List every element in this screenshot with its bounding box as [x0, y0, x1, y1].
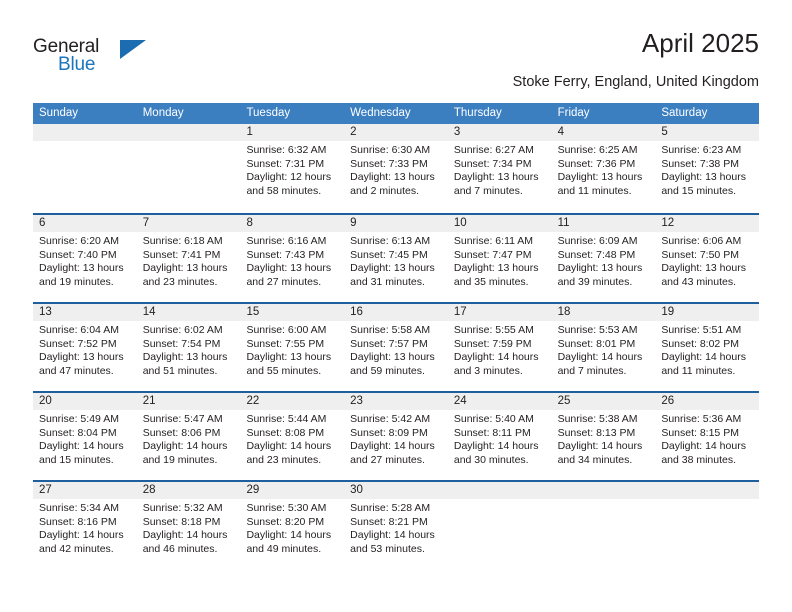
day-details: Sunrise: 6:00 AMSunset: 7:55 PMDaylight:… [240, 321, 344, 378]
daylight-text: and 23 minutes. [246, 454, 339, 468]
logo-text-blue: Blue [58, 54, 95, 76]
day-number-band: 23 [344, 393, 448, 410]
sunrise-text: Sunrise: 5:47 AM [143, 413, 236, 427]
sunrise-text: Sunrise: 6:25 AM [558, 144, 651, 158]
day-number: 9 [344, 215, 448, 232]
daylight-text: and 34 minutes. [558, 454, 651, 468]
day-details: Sunrise: 5:36 AMSunset: 8:15 PMDaylight:… [655, 410, 759, 467]
daylight-text: and 35 minutes. [454, 276, 547, 290]
day-number-band: 21 [137, 393, 241, 410]
calendar-week-row: 27Sunrise: 5:34 AMSunset: 8:16 PMDayligh… [33, 480, 759, 569]
calendar-day-cell-11[interactable]: 11Sunrise: 6:09 AMSunset: 7:48 PMDayligh… [552, 215, 656, 302]
day-details: Sunrise: 5:32 AMSunset: 8:18 PMDaylight:… [137, 499, 241, 556]
sunset-text: Sunset: 8:01 PM [558, 338, 651, 352]
day-details: Sunrise: 6:11 AMSunset: 7:47 PMDaylight:… [448, 232, 552, 289]
day-number-band: 1 [240, 124, 344, 141]
sunset-text: Sunset: 8:08 PM [246, 427, 339, 441]
daylight-text: Daylight: 13 hours [246, 351, 339, 365]
sunrise-text: Sunrise: 5:28 AM [350, 502, 443, 516]
day-number: 13 [33, 304, 137, 321]
calendar-weekday-header: SundayMondayTuesdayWednesdayThursdayFrid… [33, 103, 759, 124]
daylight-text: Daylight: 12 hours [246, 171, 339, 185]
day-number-band: 9 [344, 215, 448, 232]
page-header: General Blue April 2025 Stoke Ferry, Eng… [33, 28, 759, 100]
daylight-text: Daylight: 13 hours [661, 171, 754, 185]
daylight-text: and 49 minutes. [246, 543, 339, 557]
weekday-header-tuesday: Tuesday [240, 103, 344, 124]
sunset-text: Sunset: 7:48 PM [558, 249, 651, 263]
day-number-band: 13 [33, 304, 137, 321]
sunset-text: Sunset: 7:40 PM [39, 249, 132, 263]
daylight-text: Daylight: 14 hours [454, 351, 547, 365]
day-number: 27 [33, 482, 137, 499]
day-number: 23 [344, 393, 448, 410]
calendar-day-cell-10[interactable]: 10Sunrise: 6:11 AMSunset: 7:47 PMDayligh… [448, 215, 552, 302]
calendar-day-cell-17[interactable]: 17Sunrise: 5:55 AMSunset: 7:59 PMDayligh… [448, 304, 552, 391]
day-number-band: 6 [33, 215, 137, 232]
day-details: Sunrise: 6:23 AMSunset: 7:38 PMDaylight:… [655, 141, 759, 198]
daylight-text: and 51 minutes. [143, 365, 236, 379]
day-details: Sunrise: 5:34 AMSunset: 8:16 PMDaylight:… [33, 499, 137, 556]
daylight-text: Daylight: 14 hours [143, 529, 236, 543]
calendar-day-cell-4[interactable]: 4Sunrise: 6:25 AMSunset: 7:36 PMDaylight… [552, 124, 656, 213]
general-blue-logo: General Blue [33, 36, 153, 78]
calendar-day-cell-25[interactable]: 25Sunrise: 5:38 AMSunset: 8:13 PMDayligh… [552, 393, 656, 480]
calendar-day-cell-13[interactable]: 13Sunrise: 6:04 AMSunset: 7:52 PMDayligh… [33, 304, 137, 391]
day-number-band: 20 [33, 393, 137, 410]
calendar-day-cell-27[interactable]: 27Sunrise: 5:34 AMSunset: 8:16 PMDayligh… [33, 482, 137, 569]
day-details: Sunrise: 6:06 AMSunset: 7:50 PMDaylight:… [655, 232, 759, 289]
sunrise-text: Sunrise: 6:04 AM [39, 324, 132, 338]
weekday-header-thursday: Thursday [448, 103, 552, 124]
day-number-band [33, 124, 137, 141]
sunrise-text: Sunrise: 6:18 AM [143, 235, 236, 249]
daylight-text: and 11 minutes. [661, 365, 754, 379]
day-details: Sunrise: 6:16 AMSunset: 7:43 PMDaylight:… [240, 232, 344, 289]
calendar-day-cell-empty [655, 482, 759, 569]
day-number-band: 15 [240, 304, 344, 321]
sunset-text: Sunset: 7:55 PM [246, 338, 339, 352]
sunrise-text: Sunrise: 5:51 AM [661, 324, 754, 338]
daylight-text: and 38 minutes. [661, 454, 754, 468]
day-number: 6 [33, 215, 137, 232]
sunrise-text: Sunrise: 5:55 AM [454, 324, 547, 338]
calendar-day-cell-30[interactable]: 30Sunrise: 5:28 AMSunset: 8:21 PMDayligh… [344, 482, 448, 569]
sunrise-text: Sunrise: 5:42 AM [350, 413, 443, 427]
daylight-text: Daylight: 13 hours [558, 171, 651, 185]
day-number: 12 [655, 215, 759, 232]
day-details: Sunrise: 5:47 AMSunset: 8:06 PMDaylight:… [137, 410, 241, 467]
sunrise-text: Sunrise: 6:06 AM [661, 235, 754, 249]
day-details: Sunrise: 5:40 AMSunset: 8:11 PMDaylight:… [448, 410, 552, 467]
daylight-text: Daylight: 14 hours [246, 529, 339, 543]
page-subtitle-location: Stoke Ferry, England, United Kingdom [513, 74, 759, 90]
daylight-text: and 31 minutes. [350, 276, 443, 290]
sunset-text: Sunset: 7:34 PM [454, 158, 547, 172]
sunset-text: Sunset: 7:57 PM [350, 338, 443, 352]
day-number: 17 [448, 304, 552, 321]
day-details: Sunrise: 5:49 AMSunset: 8:04 PMDaylight:… [33, 410, 137, 467]
sunrise-text: Sunrise: 6:20 AM [39, 235, 132, 249]
daylight-text: and 19 minutes. [39, 276, 132, 290]
sunrise-text: Sunrise: 6:30 AM [350, 144, 443, 158]
day-number: 21 [137, 393, 241, 410]
calendar-day-cell-29[interactable]: 29Sunrise: 5:30 AMSunset: 8:20 PMDayligh… [240, 482, 344, 569]
sunrise-text: Sunrise: 6:09 AM [558, 235, 651, 249]
calendar-day-cell-22[interactable]: 22Sunrise: 5:44 AMSunset: 8:08 PMDayligh… [240, 393, 344, 480]
day-details: Sunrise: 5:28 AMSunset: 8:21 PMDaylight:… [344, 499, 448, 556]
day-number: 26 [655, 393, 759, 410]
logo-triangle-icon [120, 40, 146, 59]
day-number: 30 [344, 482, 448, 499]
sunset-text: Sunset: 7:45 PM [350, 249, 443, 263]
sunset-text: Sunset: 7:52 PM [39, 338, 132, 352]
day-details: Sunrise: 6:32 AMSunset: 7:31 PMDaylight:… [240, 141, 344, 198]
sunset-text: Sunset: 8:06 PM [143, 427, 236, 441]
day-number: 28 [137, 482, 241, 499]
daylight-text: Daylight: 14 hours [350, 440, 443, 454]
calendar-day-cell-9[interactable]: 9Sunrise: 6:13 AMSunset: 7:45 PMDaylight… [344, 215, 448, 302]
calendar-day-cell-28[interactable]: 28Sunrise: 5:32 AMSunset: 8:18 PMDayligh… [137, 482, 241, 569]
daylight-text: and 2 minutes. [350, 185, 443, 199]
sunrise-text: Sunrise: 5:34 AM [39, 502, 132, 516]
day-details: Sunrise: 6:27 AMSunset: 7:34 PMDaylight:… [448, 141, 552, 198]
daylight-text: and 53 minutes. [350, 543, 443, 557]
sunrise-text: Sunrise: 6:11 AM [454, 235, 547, 249]
day-number-band: 24 [448, 393, 552, 410]
calendar-day-cell-23[interactable]: 23Sunrise: 5:42 AMSunset: 8:09 PMDayligh… [344, 393, 448, 480]
daylight-text: and 42 minutes. [39, 543, 132, 557]
sunrise-text: Sunrise: 5:36 AM [661, 413, 754, 427]
daylight-text: Daylight: 13 hours [454, 262, 547, 276]
day-number: 18 [552, 304, 656, 321]
page-title: April 2025 [642, 28, 759, 59]
sunrise-text: Sunrise: 6:27 AM [454, 144, 547, 158]
calendar-week-row: 13Sunrise: 6:04 AMSunset: 7:52 PMDayligh… [33, 302, 759, 391]
sunset-text: Sunset: 7:36 PM [558, 158, 651, 172]
daylight-text: Daylight: 13 hours [350, 171, 443, 185]
daylight-text: Daylight: 14 hours [39, 529, 132, 543]
daylight-text: and 55 minutes. [246, 365, 339, 379]
day-number-band: 5 [655, 124, 759, 141]
daylight-text: and 30 minutes. [454, 454, 547, 468]
day-number-band [552, 482, 656, 499]
daylight-text: and 7 minutes. [558, 365, 651, 379]
daylight-text: Daylight: 14 hours [246, 440, 339, 454]
calendar-day-cell-empty [33, 124, 137, 213]
day-details: Sunrise: 6:25 AMSunset: 7:36 PMDaylight:… [552, 141, 656, 198]
day-number: 19 [655, 304, 759, 321]
sunset-text: Sunset: 8:11 PM [454, 427, 547, 441]
daylight-text: Daylight: 13 hours [558, 262, 651, 276]
day-number: 20 [33, 393, 137, 410]
day-number-band: 19 [655, 304, 759, 321]
sunrise-text: Sunrise: 6:13 AM [350, 235, 443, 249]
sunrise-text: Sunrise: 5:38 AM [558, 413, 651, 427]
day-number-band: 29 [240, 482, 344, 499]
day-number: 7 [137, 215, 241, 232]
calendar-page: General Blue April 2025 Stoke Ferry, Eng… [0, 0, 792, 612]
daylight-text: Daylight: 14 hours [143, 440, 236, 454]
day-details: Sunrise: 6:18 AMSunset: 7:41 PMDaylight:… [137, 232, 241, 289]
daylight-text: and 59 minutes. [350, 365, 443, 379]
calendar-day-cell-empty [448, 482, 552, 569]
day-number: 22 [240, 393, 344, 410]
calendar-weeks: 1Sunrise: 6:32 AMSunset: 7:31 PMDaylight… [33, 124, 759, 569]
weekday-header-monday: Monday [137, 103, 241, 124]
day-details: Sunrise: 5:42 AMSunset: 8:09 PMDaylight:… [344, 410, 448, 467]
sunrise-text: Sunrise: 5:44 AM [246, 413, 339, 427]
sunset-text: Sunset: 7:43 PM [246, 249, 339, 263]
sunset-text: Sunset: 7:33 PM [350, 158, 443, 172]
daylight-text: and 15 minutes. [39, 454, 132, 468]
sunset-text: Sunset: 8:04 PM [39, 427, 132, 441]
day-number-band [448, 482, 552, 499]
calendar-day-cell-1[interactable]: 1Sunrise: 6:32 AMSunset: 7:31 PMDaylight… [240, 124, 344, 213]
daylight-text: Daylight: 13 hours [350, 262, 443, 276]
day-number: 5 [655, 124, 759, 141]
sunrise-text: Sunrise: 5:40 AM [454, 413, 547, 427]
day-details: Sunrise: 5:58 AMSunset: 7:57 PMDaylight:… [344, 321, 448, 378]
daylight-text: and 58 minutes. [246, 185, 339, 199]
day-details: Sunrise: 6:09 AMSunset: 7:48 PMDaylight:… [552, 232, 656, 289]
day-number-band: 3 [448, 124, 552, 141]
calendar-day-cell-8[interactable]: 8Sunrise: 6:16 AMSunset: 7:43 PMDaylight… [240, 215, 344, 302]
calendar-week-row: 20Sunrise: 5:49 AMSunset: 8:04 PMDayligh… [33, 391, 759, 480]
calendar-day-cell-empty [552, 482, 656, 569]
day-number: 11 [552, 215, 656, 232]
daylight-text: Daylight: 14 hours [661, 351, 754, 365]
daylight-text: and 11 minutes. [558, 185, 651, 199]
sunrise-text: Sunrise: 6:16 AM [246, 235, 339, 249]
sunrise-text: Sunrise: 5:32 AM [143, 502, 236, 516]
weekday-header-friday: Friday [552, 103, 656, 124]
sunrise-text: Sunrise: 5:58 AM [350, 324, 443, 338]
calendar-day-cell-19[interactable]: 19Sunrise: 5:51 AMSunset: 8:02 PMDayligh… [655, 304, 759, 391]
calendar-day-cell-18[interactable]: 18Sunrise: 5:53 AMSunset: 8:01 PMDayligh… [552, 304, 656, 391]
weekday-header-wednesday: Wednesday [344, 103, 448, 124]
day-details: Sunrise: 6:02 AMSunset: 7:54 PMDaylight:… [137, 321, 241, 378]
sunrise-text: Sunrise: 6:23 AM [661, 144, 754, 158]
day-details: Sunrise: 6:20 AMSunset: 7:40 PMDaylight:… [33, 232, 137, 289]
calendar-day-cell-2[interactable]: 2Sunrise: 6:30 AMSunset: 7:33 PMDaylight… [344, 124, 448, 213]
day-number: 10 [448, 215, 552, 232]
day-number: 16 [344, 304, 448, 321]
daylight-text: Daylight: 13 hours [661, 262, 754, 276]
sunset-text: Sunset: 7:38 PM [661, 158, 754, 172]
calendar-day-cell-24[interactable]: 24Sunrise: 5:40 AMSunset: 8:11 PMDayligh… [448, 393, 552, 480]
day-number-band: 18 [552, 304, 656, 321]
daylight-text: and 23 minutes. [143, 276, 236, 290]
calendar-week-row: 1Sunrise: 6:32 AMSunset: 7:31 PMDaylight… [33, 124, 759, 213]
day-number-band: 25 [552, 393, 656, 410]
sunset-text: Sunset: 8:20 PM [246, 516, 339, 530]
calendar-day-cell-21[interactable]: 21Sunrise: 5:47 AMSunset: 8:06 PMDayligh… [137, 393, 241, 480]
daylight-text: Daylight: 14 hours [39, 440, 132, 454]
daylight-text: and 39 minutes. [558, 276, 651, 290]
calendar-day-cell-empty [137, 124, 241, 213]
day-number: 8 [240, 215, 344, 232]
daylight-text: Daylight: 13 hours [143, 351, 236, 365]
sunset-text: Sunset: 8:16 PM [39, 516, 132, 530]
calendar-day-cell-7[interactable]: 7Sunrise: 6:18 AMSunset: 7:41 PMDaylight… [137, 215, 241, 302]
daylight-text: Daylight: 14 hours [558, 440, 651, 454]
day-number-band: 12 [655, 215, 759, 232]
daylight-text: Daylight: 13 hours [39, 262, 132, 276]
day-details: Sunrise: 5:51 AMSunset: 8:02 PMDaylight:… [655, 321, 759, 378]
day-details: Sunrise: 6:30 AMSunset: 7:33 PMDaylight:… [344, 141, 448, 198]
day-details: Sunrise: 6:04 AMSunset: 7:52 PMDaylight:… [33, 321, 137, 378]
day-number-band: 2 [344, 124, 448, 141]
day-details: Sunrise: 5:44 AMSunset: 8:08 PMDaylight:… [240, 410, 344, 467]
sunset-text: Sunset: 7:31 PM [246, 158, 339, 172]
sunrise-text: Sunrise: 6:02 AM [143, 324, 236, 338]
sunset-text: Sunset: 8:15 PM [661, 427, 754, 441]
sunset-text: Sunset: 8:21 PM [350, 516, 443, 530]
daylight-text: Daylight: 13 hours [143, 262, 236, 276]
day-number-band: 11 [552, 215, 656, 232]
daylight-text: Daylight: 13 hours [246, 262, 339, 276]
day-number-band: 8 [240, 215, 344, 232]
daylight-text: and 46 minutes. [143, 543, 236, 557]
day-number: 15 [240, 304, 344, 321]
day-number-band: 27 [33, 482, 137, 499]
weekday-header-saturday: Saturday [655, 103, 759, 124]
daylight-text: and 47 minutes. [39, 365, 132, 379]
weekday-header-sunday: Sunday [33, 103, 137, 124]
day-number-band: 28 [137, 482, 241, 499]
day-number-band: 17 [448, 304, 552, 321]
day-details: Sunrise: 5:30 AMSunset: 8:20 PMDaylight:… [240, 499, 344, 556]
daylight-text: and 15 minutes. [661, 185, 754, 199]
daylight-text: and 3 minutes. [454, 365, 547, 379]
daylight-text: Daylight: 14 hours [661, 440, 754, 454]
daylight-text: and 27 minutes. [246, 276, 339, 290]
sunset-text: Sunset: 8:02 PM [661, 338, 754, 352]
sunset-text: Sunset: 8:13 PM [558, 427, 651, 441]
sunset-text: Sunset: 8:18 PM [143, 516, 236, 530]
day-number: 29 [240, 482, 344, 499]
sunset-text: Sunset: 7:59 PM [454, 338, 547, 352]
day-number-band: 16 [344, 304, 448, 321]
sunrise-text: Sunrise: 5:49 AM [39, 413, 132, 427]
daylight-text: and 27 minutes. [350, 454, 443, 468]
sunset-text: Sunset: 7:50 PM [661, 249, 754, 263]
day-number-band: 26 [655, 393, 759, 410]
calendar-day-cell-3[interactable]: 3Sunrise: 6:27 AMSunset: 7:34 PMDaylight… [448, 124, 552, 213]
daylight-text: Daylight: 13 hours [39, 351, 132, 365]
sunrise-text: Sunrise: 5:30 AM [246, 502, 339, 516]
day-number: 24 [448, 393, 552, 410]
day-number-band: 7 [137, 215, 241, 232]
sunrise-text: Sunrise: 6:00 AM [246, 324, 339, 338]
calendar-day-cell-26[interactable]: 26Sunrise: 5:36 AMSunset: 8:15 PMDayligh… [655, 393, 759, 480]
calendar-day-cell-15[interactable]: 15Sunrise: 6:00 AMSunset: 7:55 PMDayligh… [240, 304, 344, 391]
day-number: 1 [240, 124, 344, 141]
day-number-band: 22 [240, 393, 344, 410]
day-number: 3 [448, 124, 552, 141]
daylight-text: Daylight: 14 hours [350, 529, 443, 543]
daylight-text: Daylight: 14 hours [558, 351, 651, 365]
sunset-text: Sunset: 8:09 PM [350, 427, 443, 441]
daylight-text: Daylight: 13 hours [350, 351, 443, 365]
day-number: 25 [552, 393, 656, 410]
calendar-day-cell-5[interactable]: 5Sunrise: 6:23 AMSunset: 7:38 PMDaylight… [655, 124, 759, 213]
calendar-day-cell-12[interactable]: 12Sunrise: 6:06 AMSunset: 7:50 PMDayligh… [655, 215, 759, 302]
daylight-text: and 43 minutes. [661, 276, 754, 290]
day-number-band [655, 482, 759, 499]
day-details: Sunrise: 5:38 AMSunset: 8:13 PMDaylight:… [552, 410, 656, 467]
day-number-band: 14 [137, 304, 241, 321]
sunset-text: Sunset: 7:54 PM [143, 338, 236, 352]
sunrise-text: Sunrise: 6:32 AM [246, 144, 339, 158]
calendar-day-cell-16[interactable]: 16Sunrise: 5:58 AMSunset: 7:57 PMDayligh… [344, 304, 448, 391]
day-number-band [137, 124, 241, 141]
daylight-text: and 19 minutes. [143, 454, 236, 468]
day-details: Sunrise: 6:13 AMSunset: 7:45 PMDaylight:… [344, 232, 448, 289]
day-number: 14 [137, 304, 241, 321]
daylight-text: Daylight: 14 hours [454, 440, 547, 454]
day-number-band: 10 [448, 215, 552, 232]
day-number: 4 [552, 124, 656, 141]
day-number: 2 [344, 124, 448, 141]
calendar-day-cell-6[interactable]: 6Sunrise: 6:20 AMSunset: 7:40 PMDaylight… [33, 215, 137, 302]
sunset-text: Sunset: 7:47 PM [454, 249, 547, 263]
calendar-day-cell-20[interactable]: 20Sunrise: 5:49 AMSunset: 8:04 PMDayligh… [33, 393, 137, 480]
day-details: Sunrise: 5:55 AMSunset: 7:59 PMDaylight:… [448, 321, 552, 378]
daylight-text: and 7 minutes. [454, 185, 547, 199]
calendar-day-cell-14[interactable]: 14Sunrise: 6:02 AMSunset: 7:54 PMDayligh… [137, 304, 241, 391]
day-number-band: 30 [344, 482, 448, 499]
calendar-week-row: 6Sunrise: 6:20 AMSunset: 7:40 PMDaylight… [33, 213, 759, 302]
daylight-text: Daylight: 13 hours [454, 171, 547, 185]
day-number-band: 4 [552, 124, 656, 141]
sunrise-text: Sunrise: 5:53 AM [558, 324, 651, 338]
day-details: Sunrise: 5:53 AMSunset: 8:01 PMDaylight:… [552, 321, 656, 378]
sunset-text: Sunset: 7:41 PM [143, 249, 236, 263]
calendar-grid: SundayMondayTuesdayWednesdayThursdayFrid… [33, 103, 759, 569]
